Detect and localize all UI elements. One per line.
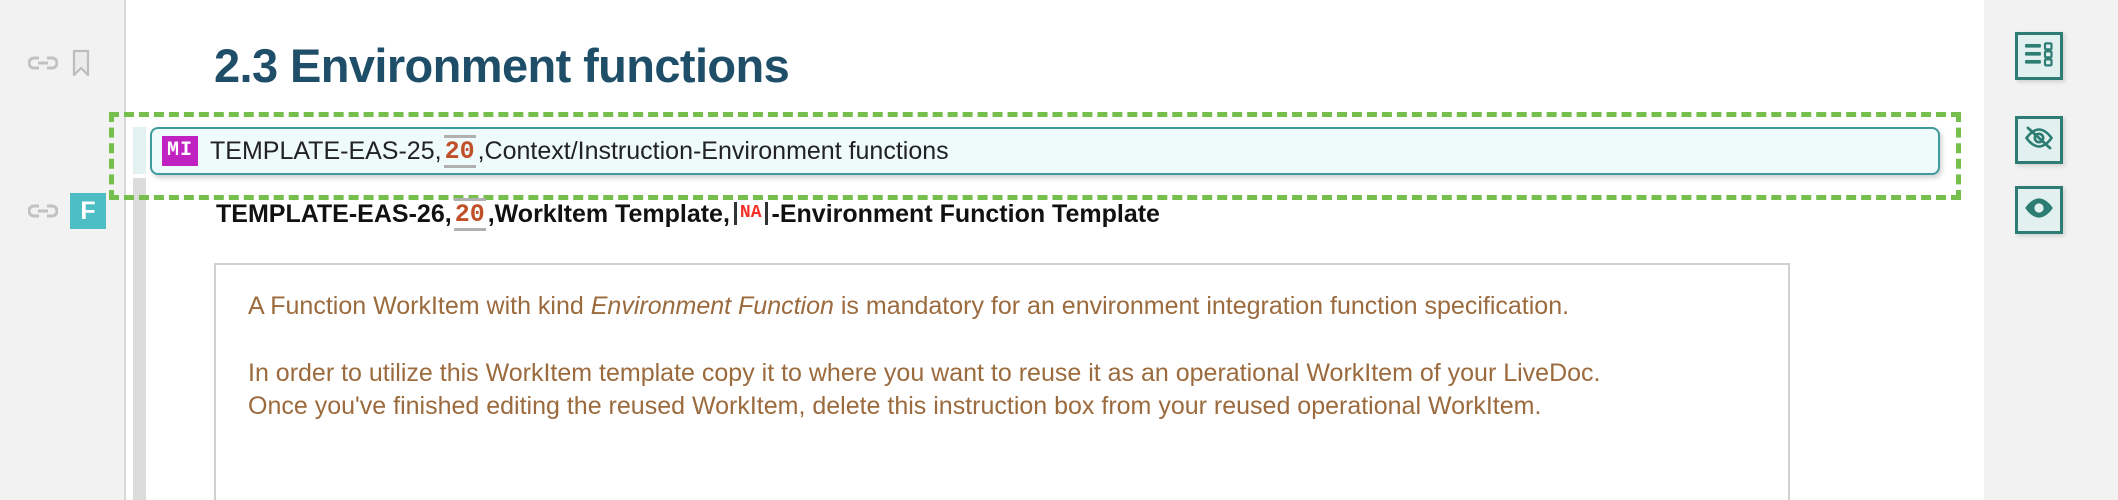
bookmark-icon[interactable] [70,48,92,78]
margin-bar-default [133,178,146,500]
instruction-paragraph-1: A Function WorkItem with kind Environmen… [248,290,1756,323]
template-dash: - [772,200,780,229]
template-workitem-row[interactable]: TEMPLATE-EAS-26, 20, WorkItem Template, … [216,198,1160,231]
right-toolbar [1984,0,2118,500]
link-icon[interactable] [28,51,58,75]
instruction-title: Environment functions [701,137,948,166]
document-view: F 2.3 Environment functions MI TEMPLATE-… [0,0,2118,500]
instruction-dash: - [693,137,701,166]
template-title: Environment Function Template [780,200,1160,229]
outline-list-button[interactable] [2015,32,2063,80]
mi-badge: MI [162,136,198,166]
left-gutter: F [0,0,125,500]
workitem-type-badge[interactable]: F [70,193,106,229]
template-status-token: NA [734,202,768,225]
template-sep-2: , [488,200,495,229]
instruction-p1-italic: Environment Function [591,292,834,320]
template-revision-token: 20 [454,198,486,231]
instruction-sep-2: , [478,137,485,166]
hide-button[interactable] [2015,116,2063,164]
instruction-sep-1: , [435,137,442,166]
page-title: 2.3 Environment functions [214,38,789,93]
template-sep-1: , [445,200,452,229]
template-workitem-id: TEMPLATE-EAS-26 [216,200,445,229]
instruction-workitem-row[interactable]: MI TEMPLATE-EAS-25, 20 , Context/Instruc… [150,127,1940,175]
instruction-kind: Context/Instruction [485,137,693,166]
instruction-p1-after: is mandatory for an environment integrat… [834,292,1569,320]
instruction-paragraph-2-line-1: In order to utilize this WorkItem templa… [248,357,1756,390]
template-kind: WorkItem Template [495,200,723,229]
gutter-divider [124,0,126,500]
eye-icon [2024,195,2054,226]
instruction-box: A Function WorkItem with kind Environmen… [214,263,1790,500]
instruction-p1-before: A Function WorkItem with kind [248,292,591,320]
template-sep-3: , [723,200,730,229]
link-icon[interactable] [28,199,58,223]
gutter-row-template: F [28,193,106,229]
eye-slash-icon [2024,125,2054,156]
instruction-workitem-id: TEMPLATE-EAS-25 [210,137,435,166]
show-button[interactable] [2015,186,2063,234]
instruction-paragraph-2-line-2: Once you've finished editing the reused … [248,390,1756,423]
gutter-row-heading [28,48,92,78]
content-area: 2.3 Environment functions MI TEMPLATE-EA… [146,0,1984,500]
outline-list-icon [2024,41,2054,72]
instruction-workitem-text: TEMPLATE-EAS-25, 20 , Context/Instructio… [210,135,949,168]
instruction-revision-token: 20 [444,135,476,168]
